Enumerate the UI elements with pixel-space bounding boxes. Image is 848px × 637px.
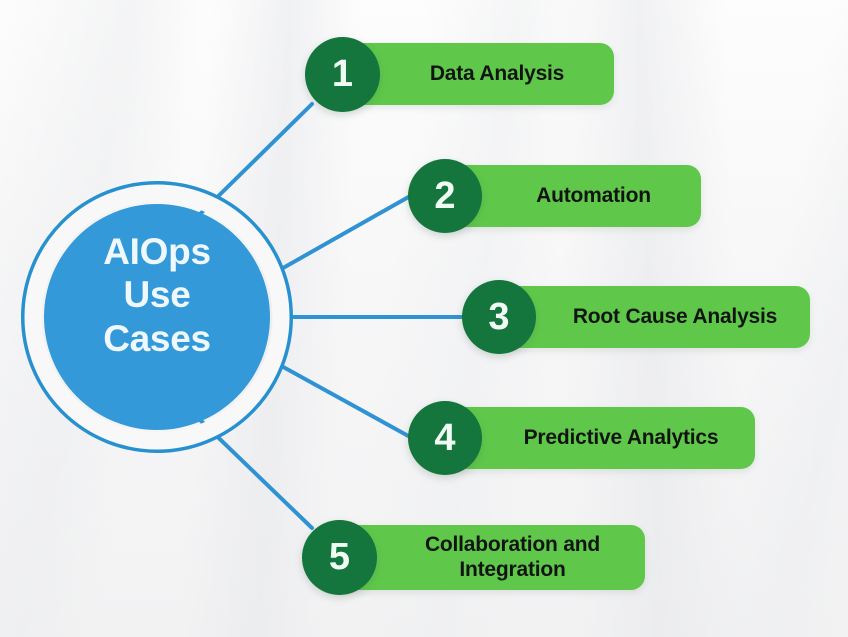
item-label-4: Predictive Analytics [487,407,755,469]
item-label-2: Automation [486,165,701,227]
item-number-3: 3 [462,280,536,354]
item-number-1: 1 [305,37,380,112]
item-label-3: Root Cause Analysis [540,286,810,348]
item-label-5: Collaboration and Integration [380,525,645,590]
item-label-1: Data Analysis [380,43,614,105]
hub-inner-disk [44,204,270,430]
item-number-2: 2 [408,159,482,233]
item-number-4: 4 [408,401,482,475]
diagram-canvas: AIOps Use Cases Data Analysis 1 Automati… [0,0,848,637]
item-number-5: 5 [302,520,377,595]
